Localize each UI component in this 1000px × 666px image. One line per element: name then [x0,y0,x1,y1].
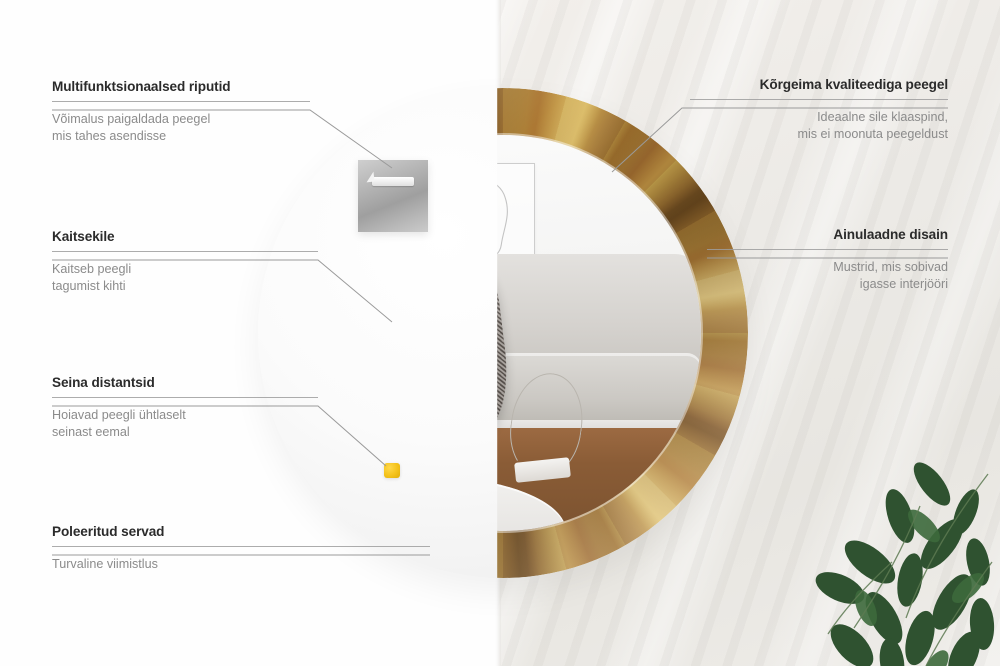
callout-rule [52,397,318,398]
callout-title: Seina distantsid [52,375,318,390]
callout-body: Ideaalne sile klaaspind, mis ei moonuta … [690,109,948,143]
callout-seina-distantsid: Seina distantsid Hoiavad peegli ühtlasel… [52,375,318,441]
callout-ainulaadne-disain: Ainulaadne disain Mustrid, mis sobivad i… [707,227,948,293]
callout-body: Mustrid, mis sobivad igasse interjööri [707,259,948,293]
infographic-canvas: Multifunktsionaalsed riputid Võimalus pa… [0,0,1000,666]
callout-title: Poleeritud servad [52,524,430,539]
callout-title: Kaitsekile [52,229,318,244]
callout-body: Turvaline viimistlus [52,556,430,573]
callout-rule [52,101,310,102]
callout-kaitsekile: Kaitsekile Kaitseb peegli tagumist kihti [52,229,318,295]
wall-spacer [384,463,400,478]
callout-body: Võimalus paigaldada peegel mis tahes ase… [52,111,310,145]
callout-body: Kaitseb peegli tagumist kihti [52,261,318,295]
hanger-plate [358,160,428,232]
callout-rule [52,251,318,252]
callout-korgeima-kvaliteediga-peegel: Kõrgeima kvaliteediga peegel Ideaalne si… [690,77,948,143]
callout-rule [707,249,948,250]
callout-title: Multifunktsionaalsed riputid [52,79,310,94]
callout-rule [52,546,430,547]
hanger-slot-icon [372,177,414,186]
mirror-product [258,88,748,578]
callout-title: Kõrgeima kvaliteediga peegel [690,77,948,92]
callout-rule [690,99,948,100]
callout-multifunktsionaalsed-riputid: Multifunktsionaalsed riputid Võimalus pa… [52,79,310,145]
callout-body: Hoiavad peegli ühtlaselt seinast eemal [52,407,318,441]
callout-title: Ainulaadne disain [707,227,948,242]
callout-poleeritud-servad: Poleeritud servad Turvaline viimistlus [52,524,430,573]
